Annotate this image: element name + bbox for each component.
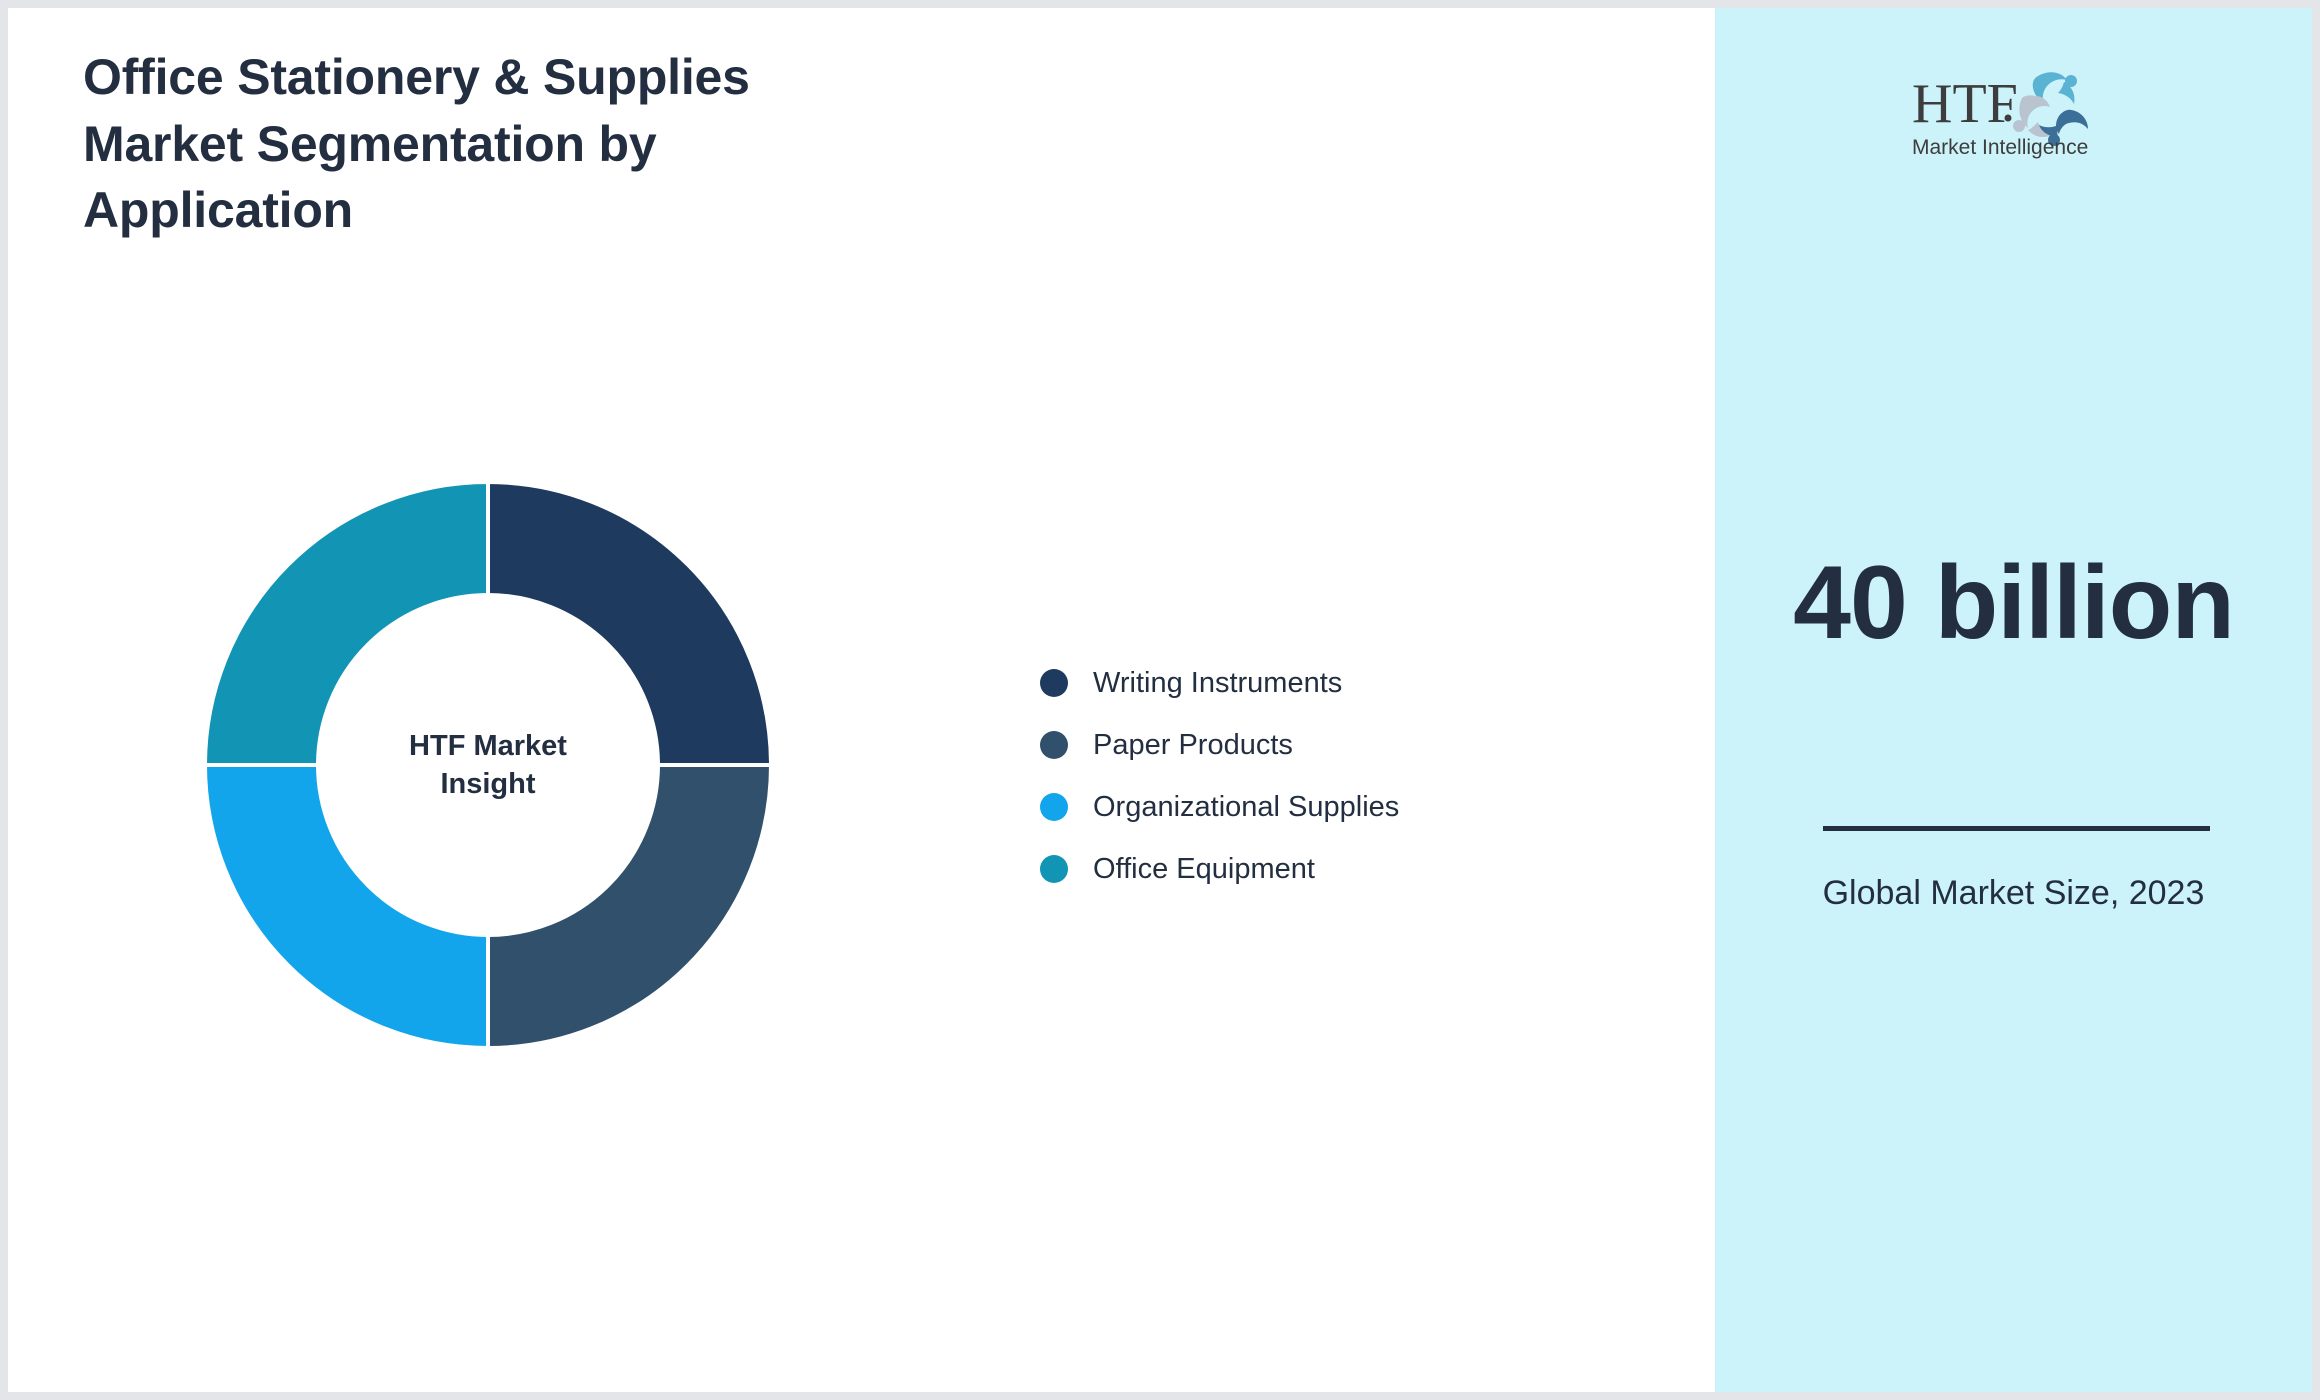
legend-item-office-equipment[interactable]: Office Equipment	[1040, 838, 1399, 900]
legend-label: Writing Instruments	[1093, 667, 1342, 700]
htf-logo-svg: HTF	[1910, 66, 2117, 162]
logo-emblem-icon	[2013, 72, 2088, 146]
donut-slices	[205, 482, 771, 1048]
donut-slice-organizational-supplies[interactable]	[205, 765, 488, 1048]
legend-item-writing-instruments[interactable]: Writing Instruments	[1040, 652, 1399, 714]
donut-chart: HTF Market Insight	[200, 477, 776, 1053]
donut-slice-writing-instruments[interactable]	[488, 482, 771, 765]
logo-period-icon	[2005, 115, 2012, 122]
legend-label: Office Equipment	[1093, 853, 1315, 886]
legend-swatch-icon	[1040, 731, 1068, 759]
donut-slice-office-equipment[interactable]	[205, 482, 488, 765]
legend-item-paper-products[interactable]: Paper Products	[1040, 714, 1399, 776]
donut-slice-paper-products[interactable]	[488, 765, 771, 1048]
chart-legend: Writing Instruments Paper Products Organ…	[1040, 652, 1399, 900]
stat-value: 40 billion	[1745, 545, 2282, 661]
logo-tagline-text: Market Intelligence	[1912, 136, 2088, 159]
legend-swatch-icon	[1040, 669, 1068, 697]
stat-divider	[1823, 826, 2210, 831]
donut-chart-svg	[200, 477, 776, 1053]
legend-label: Paper Products	[1093, 729, 1293, 762]
htf-logo: HTF	[1910, 66, 2117, 162]
page-title: Office Stationery & Supplies Market Segm…	[83, 44, 883, 244]
legend-swatch-icon	[1040, 793, 1068, 821]
infographic-canvas: Office Stationery & Supplies Market Segm…	[0, 0, 2320, 1400]
stat-caption: Global Market Size, 2023	[1780, 869, 2247, 917]
stat-panel	[1715, 8, 2312, 1392]
legend-label: Organizational Supplies	[1093, 791, 1399, 824]
legend-item-organizational-supplies[interactable]: Organizational Supplies	[1040, 776, 1399, 838]
legend-swatch-icon	[1040, 855, 1068, 883]
logo-wordmark-text: HTF	[1912, 73, 2018, 135]
